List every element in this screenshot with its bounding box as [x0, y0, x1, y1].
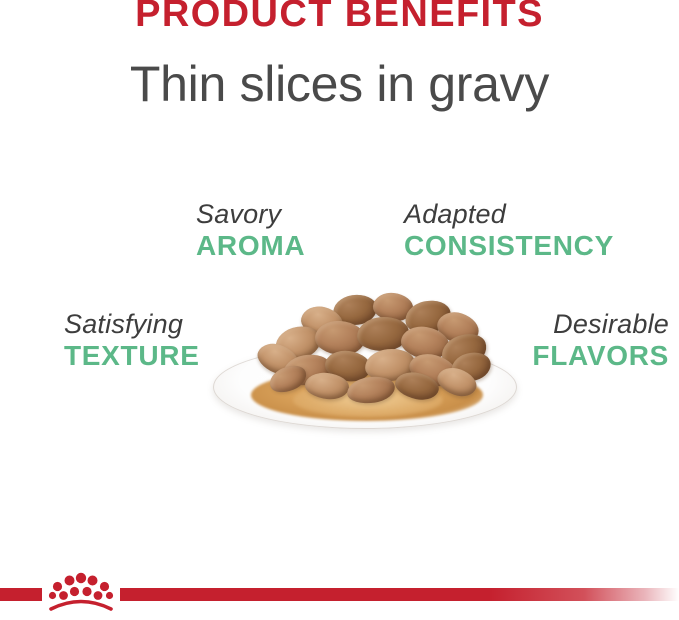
benefit-adjective: Adapted: [404, 200, 614, 229]
product-benefits-panel: PRODUCT BENEFITS Thin slices in gravy Sa…: [0, 0, 679, 620]
benefit-item-flavors: Desirable FLAVORS: [532, 310, 669, 371]
benefit-noun: FLAVORS: [532, 341, 669, 371]
benefit-item-consistency: Adapted CONSISTENCY: [404, 200, 614, 261]
royal-canin-crown-icon: [43, 569, 119, 611]
benefit-adjective: Desirable: [532, 310, 669, 339]
benefit-noun: CONSISTENCY: [404, 231, 614, 261]
benefit-item-texture: Satisfying TEXTURE: [64, 310, 200, 371]
benefit-item-aroma: Savory AROMA: [196, 200, 305, 261]
section-eyebrow: PRODUCT BENEFITS: [0, 0, 679, 37]
page-title: Thin slices in gravy: [0, 57, 679, 112]
benefit-adjective: Savory: [196, 200, 305, 229]
benefit-noun: AROMA: [196, 231, 305, 261]
benefit-adjective: Satisfying: [64, 310, 200, 339]
benefit-noun: TEXTURE: [64, 341, 200, 371]
product-photo: [205, 283, 525, 435]
meat-slice-pile: [205, 283, 525, 413]
